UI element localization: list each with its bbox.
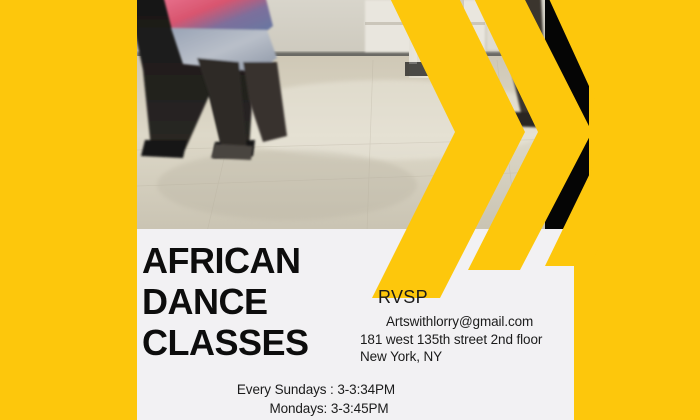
title-line-1: AFRICAN [142, 240, 309, 281]
flyer-poster: AFRICAN DANCE CLASSES RVSP Artswithlorry… [0, 0, 700, 420]
black-accent-panel [545, 0, 589, 232]
rsvp-block: RVSP Artswithlorry@gmail.com 181 west 13… [360, 286, 542, 365]
rsvp-email[interactable]: Artswithlorry@gmail.com [360, 313, 542, 331]
schedule-line-1: Every Sundays : 3-3:34PM [196, 380, 436, 399]
rsvp-address-line-1: 181 west 135th street 2nd floor [360, 331, 542, 348]
rsvp-label: RVSP [360, 286, 542, 308]
schedule-line-2: Mondays: 3-3:45PM [196, 399, 436, 418]
schedule-block: Every Sundays : 3-3:34PM Mondays: 3-3:45… [196, 380, 436, 418]
right-yellow-column [589, 0, 700, 420]
rsvp-address-line-2: New York, NY [360, 348, 542, 365]
title-line-2: DANCE [142, 281, 309, 322]
page-title: AFRICAN DANCE CLASSES [142, 240, 309, 363]
dance-studio-photo [137, 0, 600, 232]
title-line-3: CLASSES [142, 322, 309, 363]
